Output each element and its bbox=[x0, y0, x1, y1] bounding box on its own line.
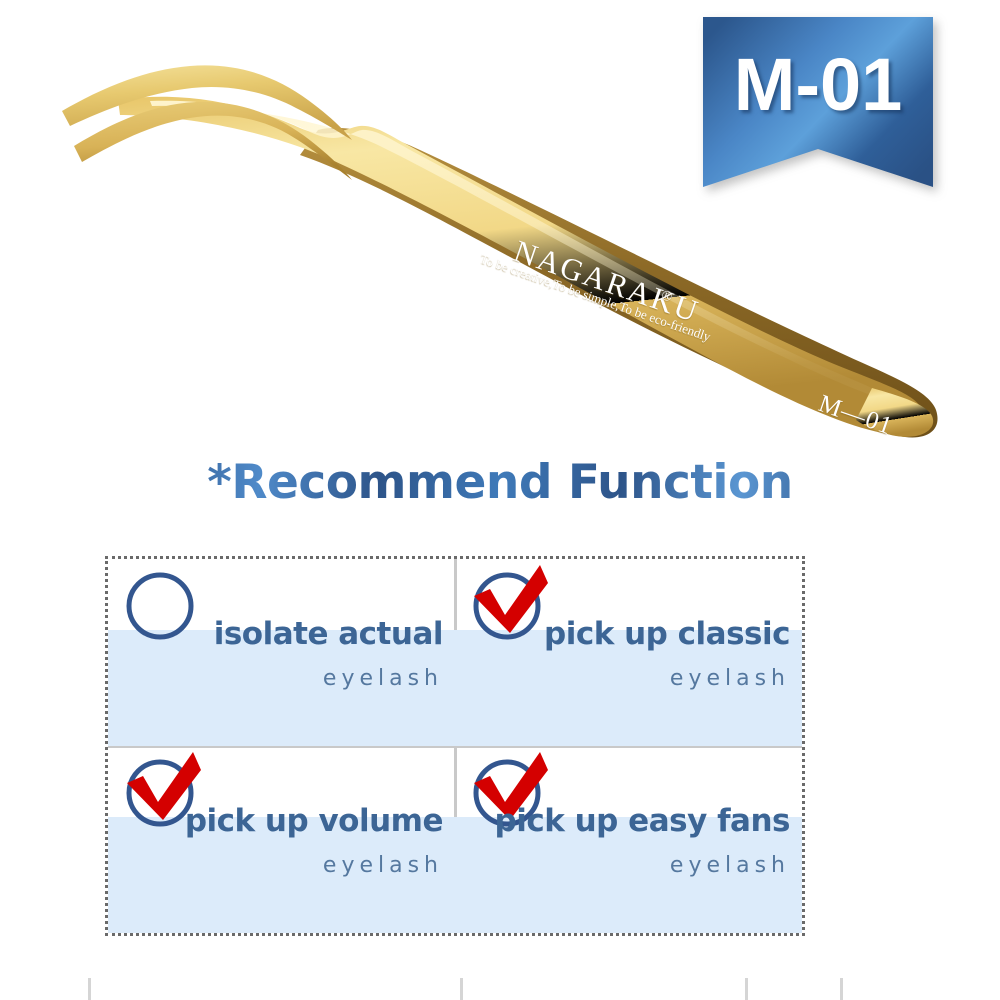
function-cell-pick-up-easy-fans[interactable]: pick up easy fans eyelash bbox=[455, 746, 802, 933]
ruler-tick bbox=[460, 978, 463, 1000]
ruler-tick-row bbox=[0, 970, 1000, 1000]
grid-row: pick up volume eyelash pick up easy fans… bbox=[108, 746, 802, 933]
function-cell-pick-up-volume[interactable]: pick up volume eyelash bbox=[108, 746, 455, 933]
grid-row: isolate actual eyelash pick up classic e… bbox=[108, 559, 802, 746]
function-subtitle: eyelash bbox=[455, 654, 790, 691]
page-title: *Recommend Function bbox=[0, 455, 1000, 510]
function-title: pick up volume bbox=[108, 802, 443, 841]
ruler-tick bbox=[88, 978, 91, 1000]
product-photo: NAGARAKU ® To be creative,To be simple,T… bbox=[0, 0, 1000, 450]
function-cell-isolate-actual[interactable]: isolate actual eyelash bbox=[108, 559, 455, 746]
function-subtitle: eyelash bbox=[108, 841, 443, 878]
ruler-tick bbox=[745, 978, 748, 1000]
recommend-function-grid: isolate actual eyelash pick up classic e… bbox=[105, 556, 805, 936]
function-title: pick up easy fans bbox=[455, 802, 790, 841]
ruler-tick bbox=[840, 978, 843, 1000]
model-badge-ribbon: M-01 bbox=[703, 17, 933, 187]
function-subtitle: eyelash bbox=[455, 841, 790, 878]
function-title: isolate actual bbox=[108, 615, 443, 654]
function-cell-pick-up-classic[interactable]: pick up classic eyelash bbox=[455, 559, 802, 746]
function-title: pick up classic bbox=[455, 615, 790, 654]
function-subtitle: eyelash bbox=[108, 654, 443, 691]
model-badge-label: M-01 bbox=[703, 17, 933, 152]
